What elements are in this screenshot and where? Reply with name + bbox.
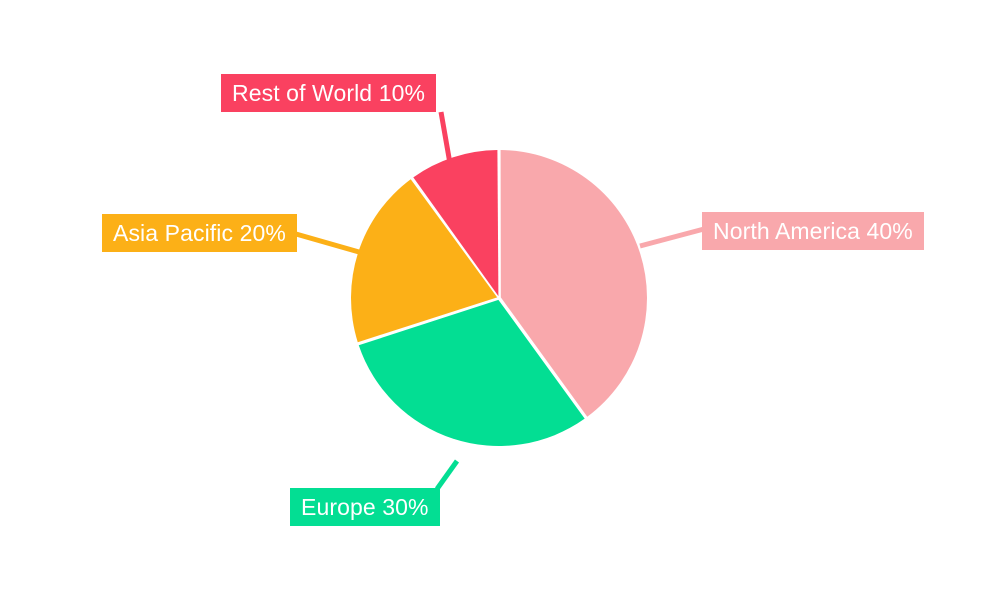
pie-label-rest-of-world-text: Rest of World 10% [232,82,425,105]
leader-line-asia-pacific [296,234,359,252]
pie-label-north-america[interactable]: North America 40% [702,212,924,250]
pie-chart-figure: North America 40% Europe 30% Asia Pacifi… [0,0,1000,600]
pie-label-europe-text: Europe 30% [301,496,429,519]
pie-label-europe[interactable]: Europe 30% [290,488,440,526]
pie-slices [351,150,647,446]
leader-line-north-america [640,229,704,246]
pie-label-asia-pacific[interactable]: Asia Pacific 20% [102,214,297,252]
pie-label-north-america-text: North America 40% [713,220,913,243]
pie-label-rest-of-world[interactable]: Rest of World 10% [221,74,436,112]
leader-line-europe [437,461,457,489]
pie-label-asia-pacific-text: Asia Pacific 20% [113,222,286,245]
pie-chart-canvas [0,0,1000,600]
